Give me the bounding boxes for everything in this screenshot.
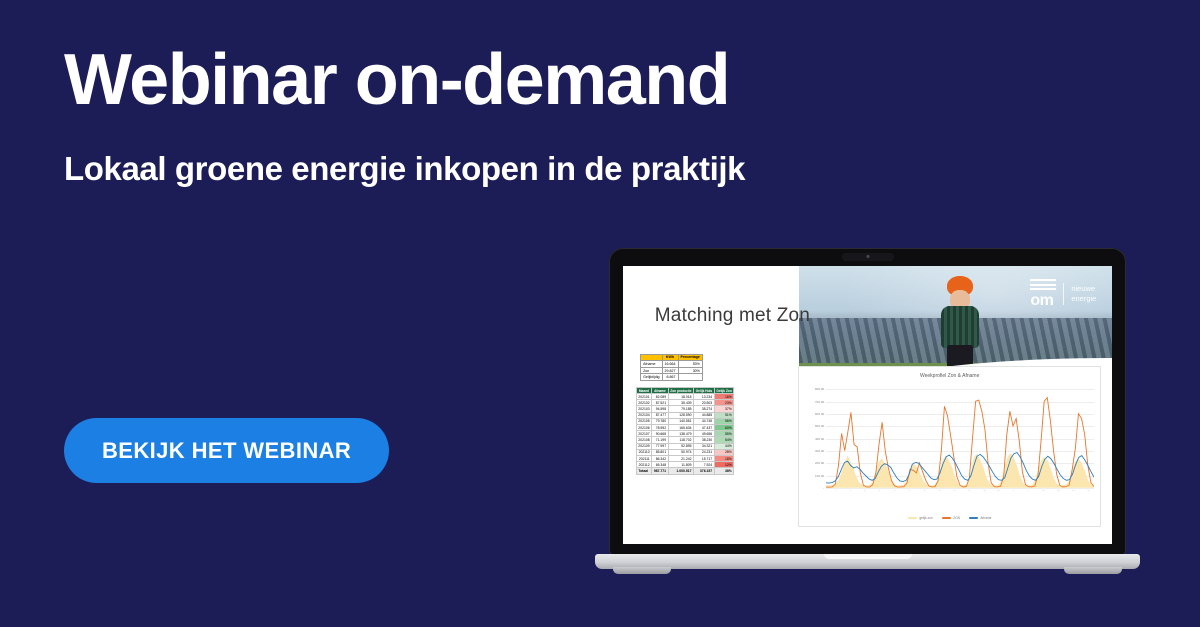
chart-y-tick: - [792, 486, 826, 490]
kpi-cell: Afname [641, 361, 662, 368]
page-subtitle: Lokaal groene energie inkopen in de prak… [64, 150, 944, 188]
chart-area-gelijk-zon [826, 454, 1094, 489]
chart-x-tick: 3-8-21 12:00 [908, 490, 917, 491]
chart-x-tick: 9-8-21 12:00 [1087, 490, 1094, 491]
kpi-cell: 53% [678, 361, 702, 368]
chart-y-tick: 100,00 [792, 474, 826, 478]
chart-x-tick: 2-8-21 12:00 [878, 490, 887, 491]
chart-x-tick: 1-8-21 12:00 [849, 490, 858, 491]
logo-mark: om [1030, 279, 1056, 309]
laptop-foot-left [613, 567, 671, 574]
chart-x-tick: 6-8-21 12:00 [997, 490, 1006, 491]
chart-legend-item: Afname [969, 516, 992, 520]
laptop-foot-right [1064, 567, 1122, 574]
logo-tagline: nieuwe energie [1071, 284, 1096, 303]
chart-x-tick: 6-8-21 00:00 [983, 490, 992, 491]
kpi-row: Zon29.82730% [641, 367, 703, 374]
kpi-cell [678, 374, 702, 381]
chart-y-tick: 300,00 [792, 449, 826, 453]
logo-divider [1063, 283, 1064, 305]
legend-swatch [969, 517, 978, 519]
kpi-cell: 8.867 [662, 374, 678, 381]
laptop-lid: om nieuwe energie Matching met Zon KWh [609, 248, 1126, 556]
table-total-cell: 38% [714, 468, 734, 474]
kpi-cell: 30% [678, 367, 702, 374]
chart-x-tick: 4-8-21 12:00 [938, 490, 947, 491]
chart-y-tick: 400,00 [792, 437, 826, 441]
chart-legend-item: gelijk zon [908, 516, 933, 520]
chart-y-tick: 600,00 [792, 412, 826, 416]
chart-y-tick: 200,00 [792, 461, 826, 465]
chart-plot-area: -100,00200,00300,00400,00500,00600,00700… [826, 389, 1094, 488]
slide-title: Matching met Zon [655, 305, 810, 327]
table-total-row: Totaal987.7711.000.517376.15738% [636, 468, 734, 474]
chart-x-tick: 5-8-21 00:00 [953, 490, 962, 491]
chart-title: Weekprofiel Zon & Afname [799, 373, 1100, 379]
page-title: Webinar on-demand [64, 44, 944, 116]
presentation-slide: om nieuwe energie Matching met Zon KWh [623, 266, 1112, 544]
logo-tagline-line2: energie [1071, 294, 1096, 303]
legend-swatch [908, 517, 917, 519]
webcam-icon [866, 255, 869, 258]
chart-x-tick: 7-8-21 00:00 [1012, 490, 1021, 491]
kpi-row: Afname16.66453% [641, 361, 703, 368]
legend-label: Afname [980, 516, 991, 520]
chart-legend: gelijk zonZONAfname [799, 516, 1100, 520]
chart-x-tick: 5-8-21 12:00 [968, 490, 977, 491]
laptop-mockup: om nieuwe energie Matching met Zon KWh [595, 248, 1140, 588]
kpi-header-cell: Percentage [678, 354, 702, 361]
monthly-body: 20210182.08918.01813.23416%20210287.5213… [636, 394, 734, 474]
legend-label: ZON [953, 516, 960, 520]
legend-label: gelijk zon [919, 516, 932, 520]
body-shape [941, 306, 979, 347]
logo-tagline-line1: nieuwe [1071, 284, 1096, 293]
legend-swatch [942, 517, 951, 519]
kpi-header-row: KWhPercentage [641, 354, 703, 361]
logo-wordmark: om [1030, 293, 1056, 309]
table-total-cell: Totaal [636, 468, 652, 474]
kpi-cell: 16.664 [662, 361, 678, 368]
kpi-body: Afname16.66453%Zon29.82730%Gelijktijdig8… [641, 361, 703, 381]
chart-series-svg [826, 389, 1094, 488]
chart-x-tick: 8-8-21 00:00 [1042, 490, 1051, 491]
kpi-cell: 29.827 [662, 367, 678, 374]
webinar-banner: Webinar on-demand Lokaal groene energie … [0, 0, 1200, 627]
kpi-cell: Gelijktijdig [641, 374, 662, 381]
chart-x-tick: 9-8-21 00:00 [1072, 490, 1081, 491]
kpi-cell: Zon [641, 367, 662, 374]
chart-line-ZON [826, 398, 1094, 488]
chart-x-tick: 1-8-21 00:00 [834, 490, 843, 491]
chart-y-tick: 700,00 [792, 400, 826, 404]
table-total-cell: 376.157 [694, 468, 715, 474]
kpi-header-cell [641, 354, 662, 361]
chart-x-tick: 4-8-21 00:00 [923, 490, 932, 491]
kpi-header-cell: KWh [662, 354, 678, 361]
chart-x-tick: 3-8-21 00:00 [893, 490, 902, 491]
hero-copy: Webinar on-demand Lokaal groene energie … [64, 44, 944, 188]
laptop-screen: om nieuwe energie Matching met Zon KWh [623, 266, 1112, 544]
kpi-table: KWhPercentage Afname16.66453%Zon29.82730… [640, 354, 703, 381]
chart-x-axis: 1-8-21 00:001-8-21 12:002-8-21 00:002-8-… [826, 490, 1094, 515]
watch-webinar-button[interactable]: BEKIJK HET WEBINAR [64, 418, 389, 483]
table-total-cell: 987.771 [652, 468, 668, 474]
chart-legend-item: ZON [942, 516, 960, 520]
chart-x-tick: 7-8-21 12:00 [1027, 490, 1036, 491]
chart-x-tick: 8-8-21 12:00 [1057, 490, 1066, 491]
table-total-cell: 1.000.517 [668, 468, 693, 474]
chart-y-tick: 500,00 [792, 424, 826, 428]
chart-y-tick: 800,00 [792, 387, 826, 391]
om-logo: om nieuwe energie [1030, 279, 1096, 309]
logo-bars-icon [1030, 279, 1056, 290]
chart-x-tick: 2-8-21 00:00 [863, 490, 872, 491]
laptop-base [595, 554, 1140, 569]
kpi-row: Gelijktijdig8.867 [641, 374, 703, 381]
monthly-table: MaandAfnameZon productieGelijk HuisGelij… [636, 387, 735, 475]
chart-card: Weekprofiel Zon & Afname -100,00200,0030… [798, 366, 1101, 527]
